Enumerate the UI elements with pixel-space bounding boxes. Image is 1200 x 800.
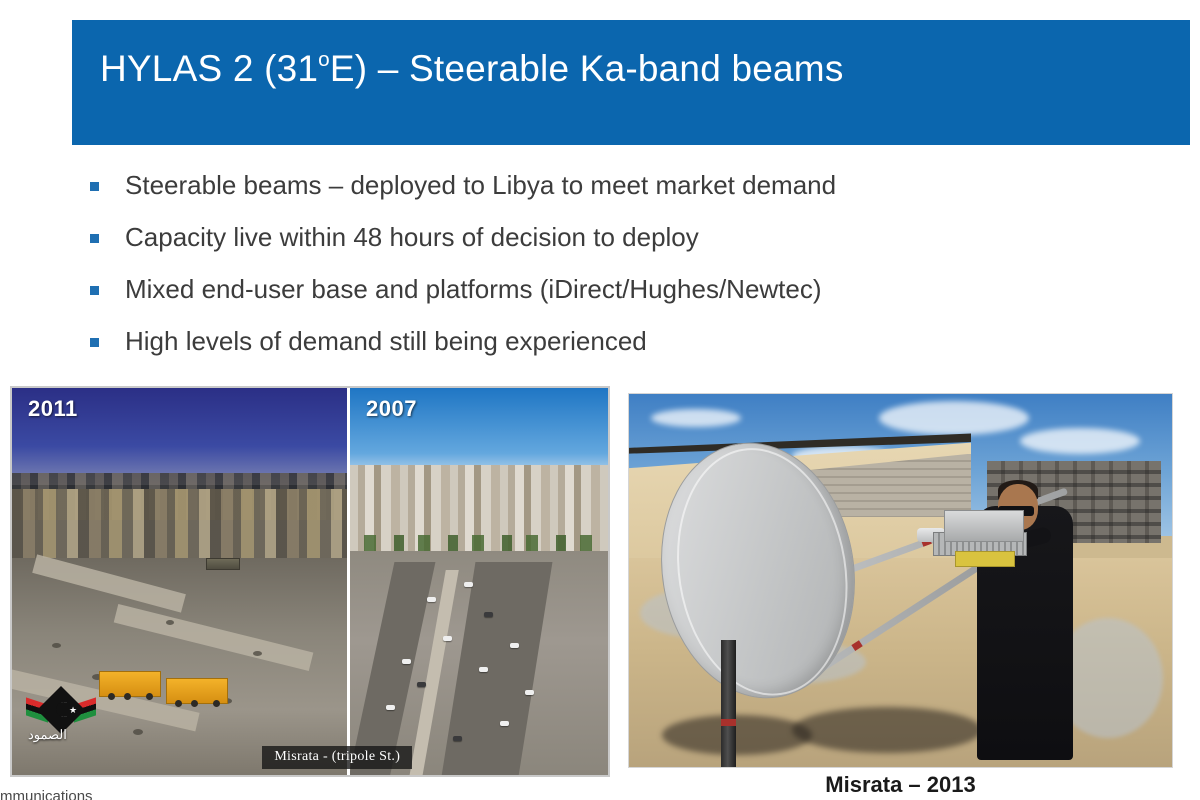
bullet-text: Capacity live within 48 hours of decisio… xyxy=(125,220,699,254)
emblem-arabic-text: الصمود xyxy=(28,727,67,743)
debris xyxy=(133,729,143,735)
cloud xyxy=(1020,428,1140,454)
yellow-truck xyxy=(99,671,161,697)
year-label-2011: 2011 xyxy=(28,396,78,422)
list-item: Mixed end-user base and platforms (iDire… xyxy=(90,272,1140,324)
star-icon: ★ xyxy=(69,706,77,715)
yellow-truck xyxy=(166,678,228,704)
photo-pane-2011: 2011 ★ الصمود xyxy=(12,388,347,775)
car xyxy=(417,682,426,687)
libya-emblem-icon: ★ الصمود xyxy=(26,689,102,741)
car xyxy=(525,690,534,695)
crescent-icon xyxy=(52,702,67,717)
dish-mast xyxy=(721,640,736,767)
bullet-text: Mixed end-user base and platforms (iDire… xyxy=(125,272,822,306)
cast-shadow xyxy=(792,707,982,753)
square-bullet-icon xyxy=(90,338,99,347)
year-label-2007: 2007 xyxy=(366,396,417,422)
car xyxy=(510,643,519,648)
slide-title-bar: HYLAS 2 (31oE) – Steerable Ka-band beams xyxy=(72,20,1190,145)
car xyxy=(464,582,473,587)
misrata-comparison-photo: 2011 ★ الصمود 2007 Misrata - (tripo xyxy=(10,386,610,777)
title-rest: E) – Steerable Ka-band beams xyxy=(330,48,844,89)
cast-shadow xyxy=(662,715,812,755)
lnb-label xyxy=(955,551,1015,567)
mast-band xyxy=(721,719,736,726)
wrecked-vehicle xyxy=(206,558,240,570)
square-bullet-icon xyxy=(90,286,99,295)
square-bullet-icon xyxy=(90,182,99,191)
degree-symbol: o xyxy=(318,48,330,71)
car xyxy=(453,736,462,741)
photo-caption-misrata-2013: Misrata – 2013 xyxy=(628,772,1173,798)
list-item: Capacity live within 48 hours of decisio… xyxy=(90,220,1140,272)
photo-pane-2007: 2007 xyxy=(347,388,608,775)
satellite-dish-install-photo xyxy=(628,393,1173,768)
bullet-text: High levels of demand still being experi… xyxy=(125,324,647,358)
square-bullet-icon xyxy=(90,234,99,243)
car xyxy=(386,705,395,710)
page-title: HYLAS 2 (31oE) – Steerable Ka-band beams xyxy=(100,48,844,90)
footer-cut-text: mmunications xyxy=(0,788,93,800)
car xyxy=(443,636,452,641)
car xyxy=(402,659,411,664)
list-item: High levels of demand still being experi… xyxy=(90,324,1140,376)
car xyxy=(427,597,436,602)
title-main: HYLAS 2 (31 xyxy=(100,48,318,89)
car xyxy=(500,721,509,726)
cloud xyxy=(651,409,741,427)
photo-caption-misrata-tripoli-st: Misrata - (tripole St.) xyxy=(262,746,412,769)
bullet-list: Steerable beams – deployed to Libya to m… xyxy=(90,168,1140,376)
bullet-text: Steerable beams – deployed to Libya to m… xyxy=(125,168,836,202)
car xyxy=(479,667,488,672)
list-item: Steerable beams – deployed to Libya to m… xyxy=(90,168,1140,220)
lnb-transceiver xyxy=(944,510,1024,542)
car xyxy=(484,612,493,617)
